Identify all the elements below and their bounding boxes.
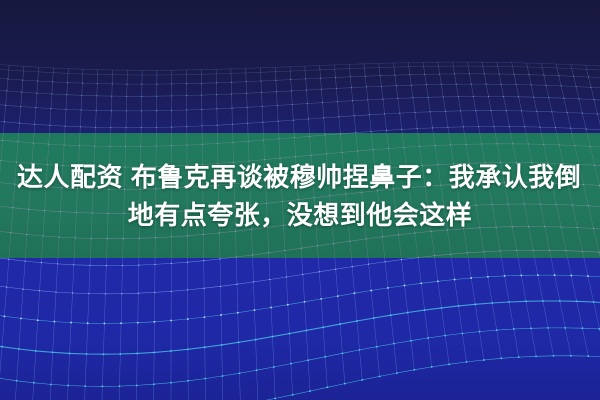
article-thumbnail-banner: 达人配资 布鲁克再谈被穆帅捏鼻子：我承认我倒 地有点夸张，没想到他会这样 [0, 0, 600, 400]
mesh-clip-bottom [0, 258, 600, 400]
wireframe-mesh-wave-icon [0, 0, 600, 133]
headline-line-2: 地有点夸张，没想到他会这样 [128, 196, 473, 234]
headline-block: 达人配资 布鲁克再谈被穆帅捏鼻子：我承认我倒 地有点夸张，没想到他会这样 [0, 133, 600, 258]
headline-line-1: 达人配资 布鲁克再谈被穆帅捏鼻子：我承认我倒 [17, 158, 581, 196]
wireframe-mesh-wave-icon [0, 258, 600, 400]
mesh-clip-top [0, 0, 600, 133]
